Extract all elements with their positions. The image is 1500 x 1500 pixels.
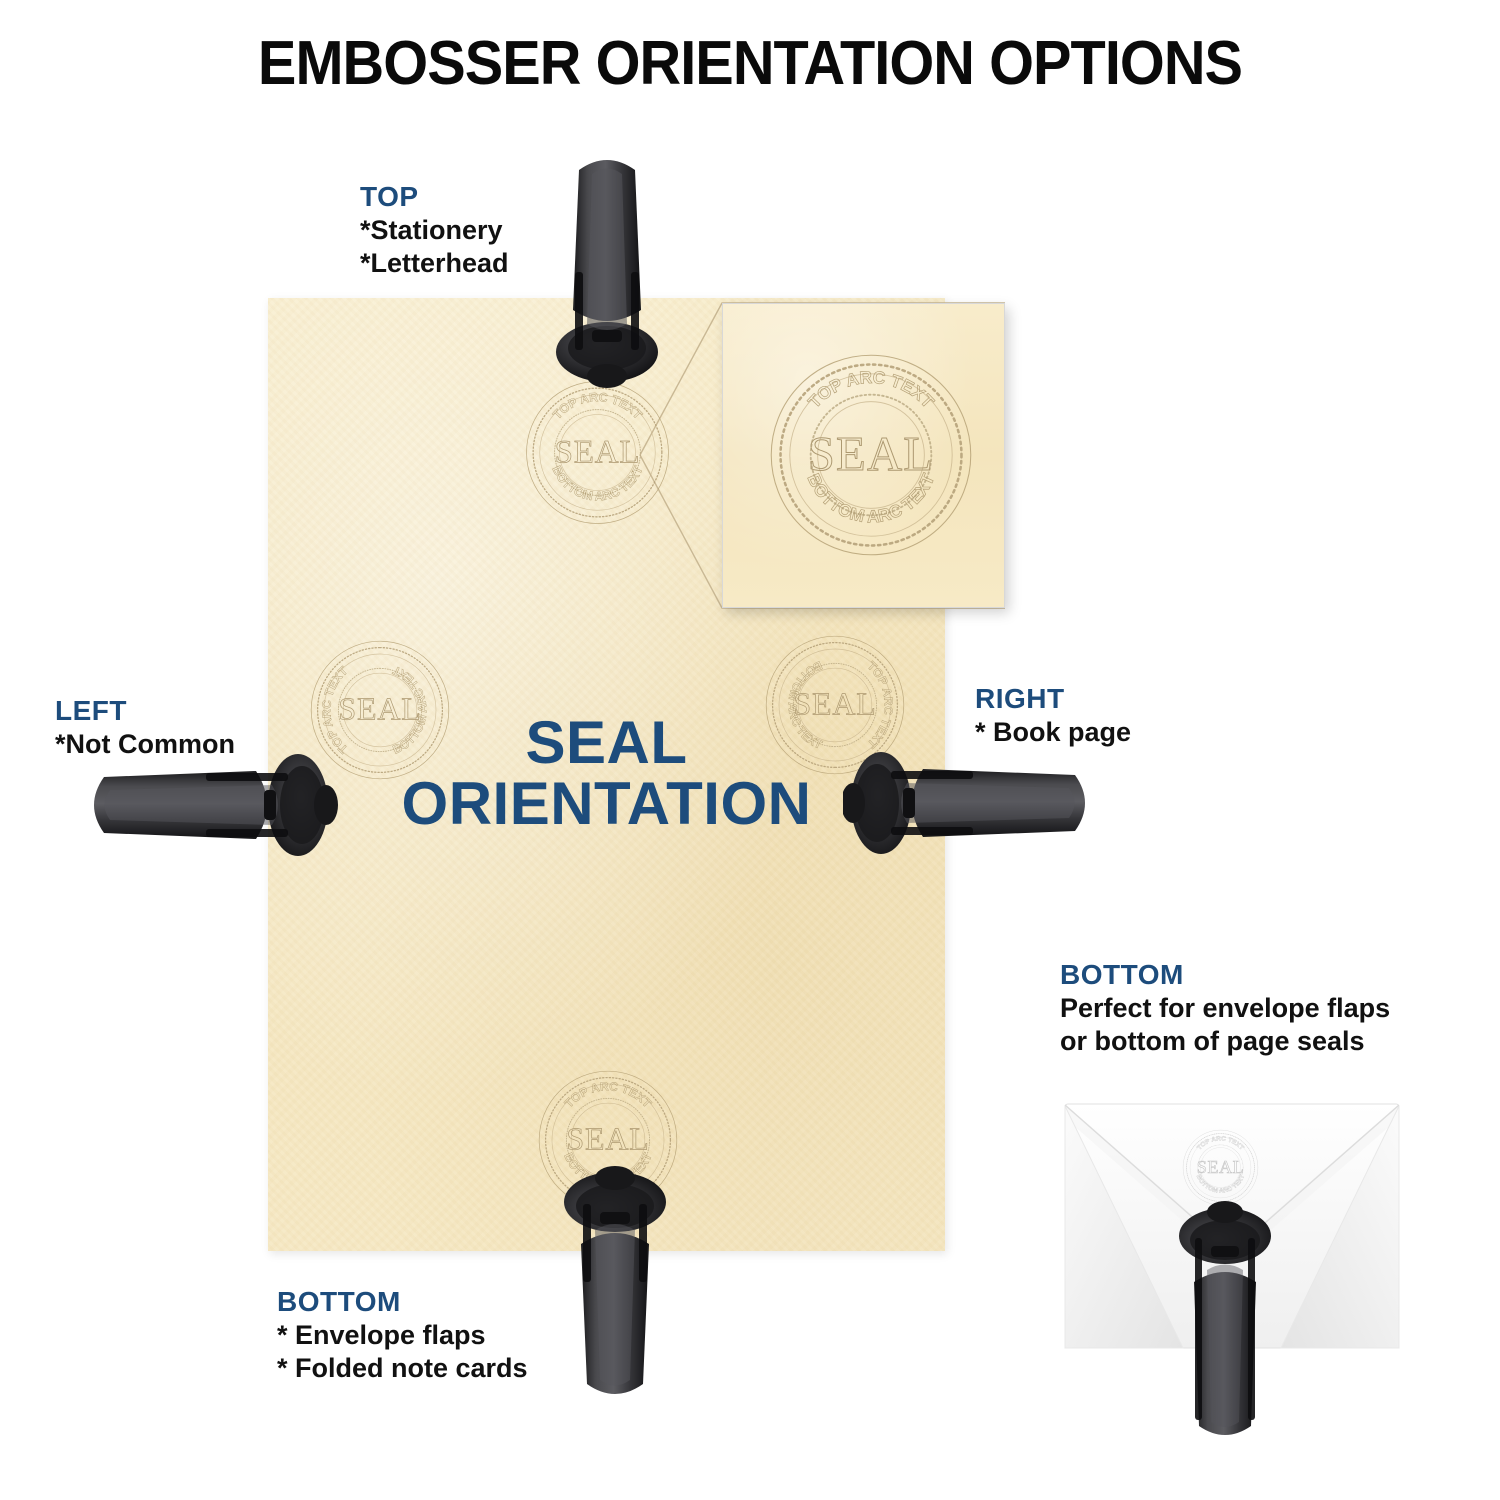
annotation-bottom-paper-line2: * Folded note cards: [277, 1352, 528, 1385]
magnified-seal-callout: TOP ARC TEXT BOTTOM ARC TEXT SEAL: [722, 303, 1005, 608]
embosser-tool-icon: [548, 152, 666, 392]
annotation-top-line1: *Stationery: [360, 214, 509, 247]
embosser-tool-right[interactable]: [843, 742, 1093, 862]
annotation-top: TOP *Stationery *Letterhead: [360, 180, 509, 280]
embosser-tool-icon: [843, 742, 1093, 862]
annotation-bottom-paper-line1: * Envelope flaps: [277, 1319, 528, 1352]
envelope-illustration: TOP ARC TEXT BOTTOM ARC TEXT SEAL: [1063, 1100, 1401, 1360]
annotation-bottom-envelope: BOTTOM Perfect for envelope flaps or bot…: [1060, 958, 1390, 1058]
annotation-top-heading: TOP: [360, 180, 509, 214]
embosser-tool-icon: [1173, 1194, 1277, 1444]
annotation-left-line1: *Not Common: [55, 728, 235, 761]
annotation-bottom-paper-heading: BOTTOM: [277, 1285, 528, 1319]
annotation-left: LEFT *Not Common: [55, 694, 235, 761]
annotation-bottom-envelope-heading: BOTTOM: [1060, 958, 1390, 992]
annotation-top-line2: *Letterhead: [360, 247, 509, 280]
embosser-tool-envelope[interactable]: [1173, 1194, 1277, 1444]
seal-impression-magnified: TOP ARC TEXT BOTTOM ARC TEXT SEAL: [755, 339, 987, 571]
annotation-left-heading: LEFT: [55, 694, 235, 728]
annotation-right-heading: RIGHT: [975, 682, 1131, 716]
infographic-canvas: EMBOSSER ORIENTATION OPTIONS TOP ARC TEX…: [0, 0, 1500, 1500]
svg-text:BOTTOM ARC TEXT: BOTTOM ARC TEXT: [803, 470, 938, 526]
page-title: EMBOSSER ORIENTATION OPTIONS: [53, 28, 1448, 99]
annotation-bottom-paper: BOTTOM * Envelope flaps * Folded note ca…: [277, 1285, 528, 1385]
embosser-tool-bottom[interactable]: [556, 1158, 674, 1403]
svg-text:TOP ARC TEXT: TOP ARC TEXT: [804, 367, 938, 412]
embosser-tool-left[interactable]: [86, 744, 346, 864]
embosser-tool-top[interactable]: [548, 152, 666, 392]
embosser-tool-icon: [86, 744, 346, 864]
annotation-bottom-envelope-line1: Perfect for envelope flaps: [1060, 992, 1390, 1025]
embosser-tool-icon: [556, 1158, 674, 1403]
annotation-right: RIGHT * Book page: [975, 682, 1131, 749]
annotation-bottom-envelope-line2: or bottom of page seals: [1060, 1025, 1390, 1058]
svg-text:SEAL: SEAL: [808, 427, 934, 481]
annotation-right-line1: * Book page: [975, 716, 1131, 749]
